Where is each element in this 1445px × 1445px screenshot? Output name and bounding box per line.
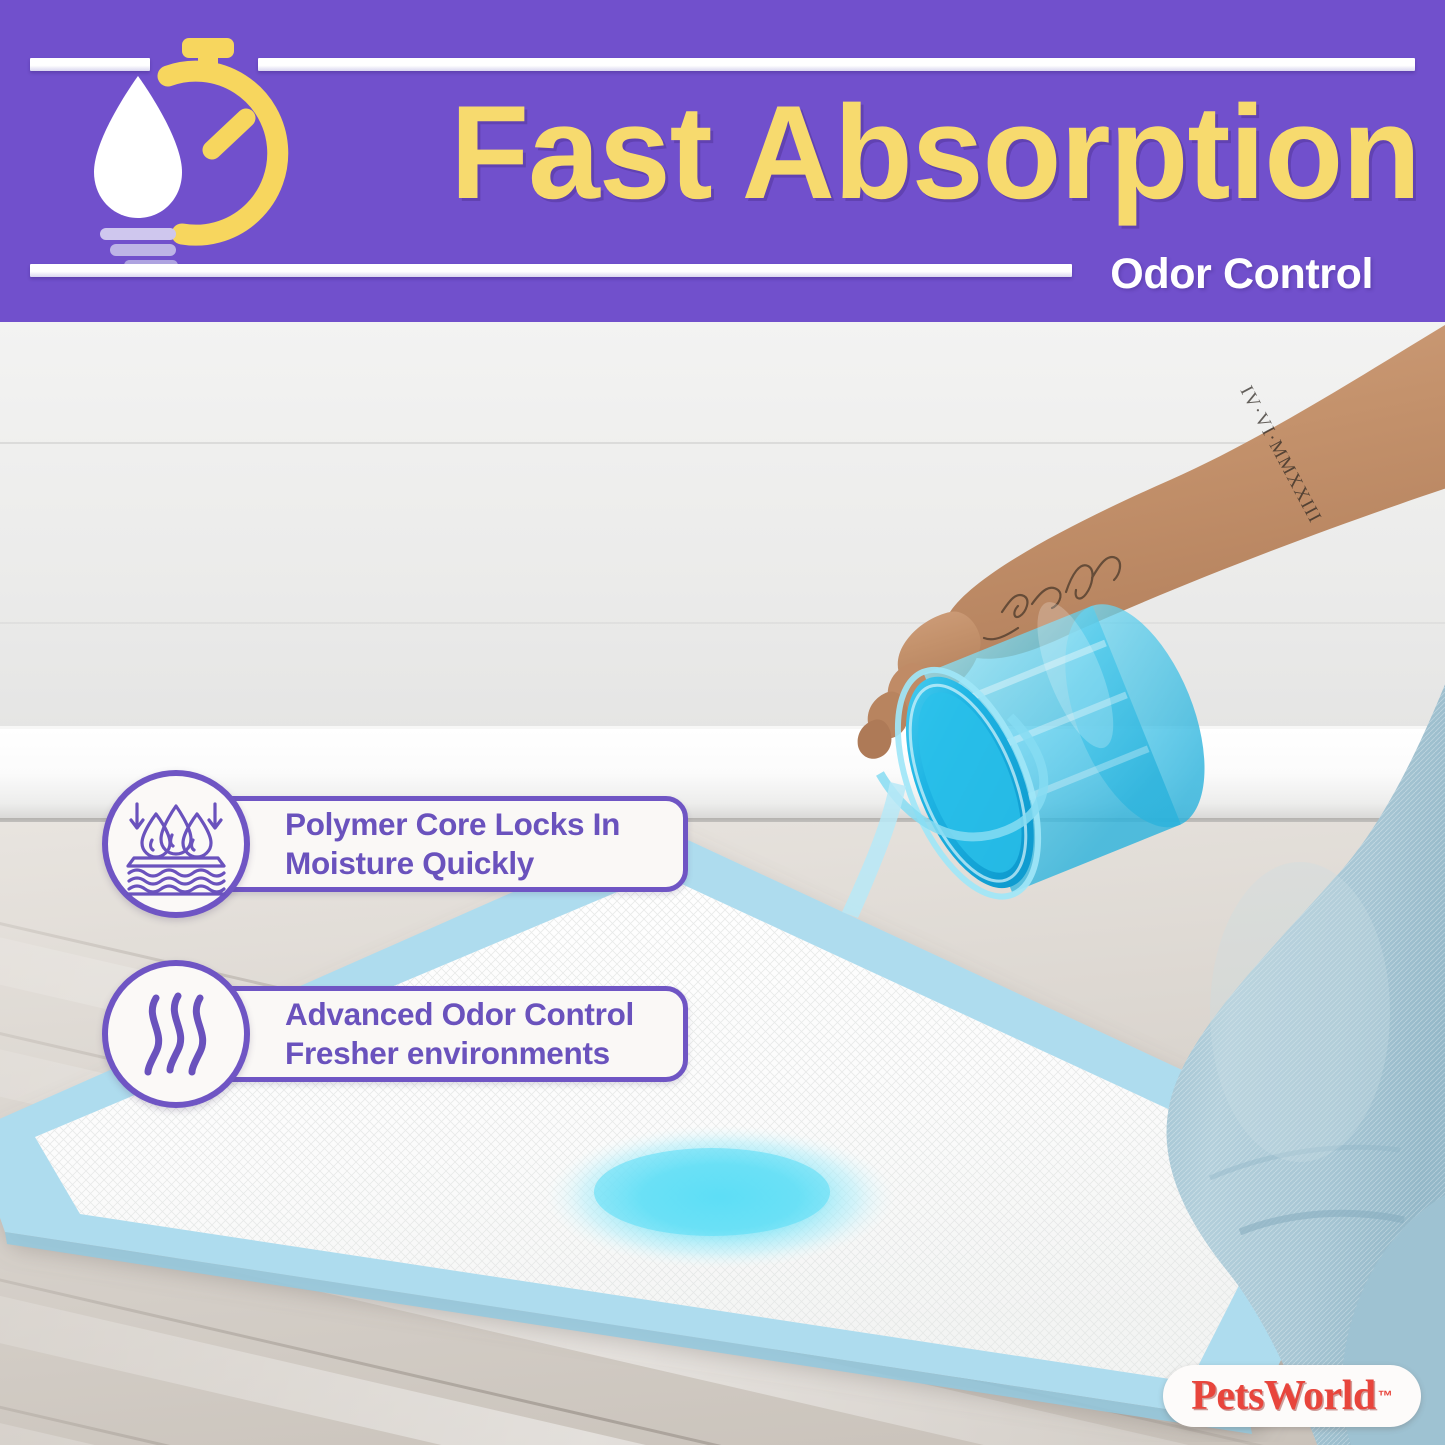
feature-line-2: Fresher environments <box>285 1034 634 1073</box>
feature-badge-polymer-core[interactable]: Polymer Core Locks In Moisture Quickly <box>102 770 688 918</box>
odor-waves-icon <box>126 984 226 1084</box>
forearm <box>944 322 1445 659</box>
absorbent-droplets-layers-icon <box>120 788 232 900</box>
page-title: Fast Absorption <box>392 78 1420 228</box>
feature-line-2: Moisture Quickly <box>285 844 620 883</box>
header-rule-top-right <box>258 58 1415 71</box>
feature-icon-circle <box>102 770 250 918</box>
pouring-stream <box>842 782 906 918</box>
feature-line-1: Advanced Odor Control <box>285 995 634 1034</box>
feature-label-pill: Advanced Odor Control Fresher environmen… <box>188 986 688 1082</box>
feature-label-pill: Polymer Core Locks In Moisture Quickly <box>188 796 688 892</box>
product-photo: IV·VI·MMXXIII <box>0 322 1445 1445</box>
thumb <box>858 719 892 758</box>
trademark-symbol: ™ <box>1378 1388 1393 1405</box>
brand-logo[interactable]: PetsWorld™ <box>1163 1365 1421 1427</box>
product-infographic: Fast Absorption Odor Control <box>0 0 1445 1445</box>
header-subtitle: Odor Control <box>1110 248 1373 300</box>
header-banner: Fast Absorption Odor Control <box>0 0 1445 322</box>
header-rule-bottom <box>30 264 1072 277</box>
feature-badge-odor-control[interactable]: Advanced Odor Control Fresher environmen… <box>102 960 688 1108</box>
feature-icon-circle <box>102 960 250 1108</box>
feature-line-1: Polymer Core Locks In <box>285 805 620 844</box>
stopwatch-droplet-icon <box>86 32 316 264</box>
brand-name: PetsWorld <box>1191 1375 1375 1417</box>
denim-knee <box>1150 672 1445 1445</box>
